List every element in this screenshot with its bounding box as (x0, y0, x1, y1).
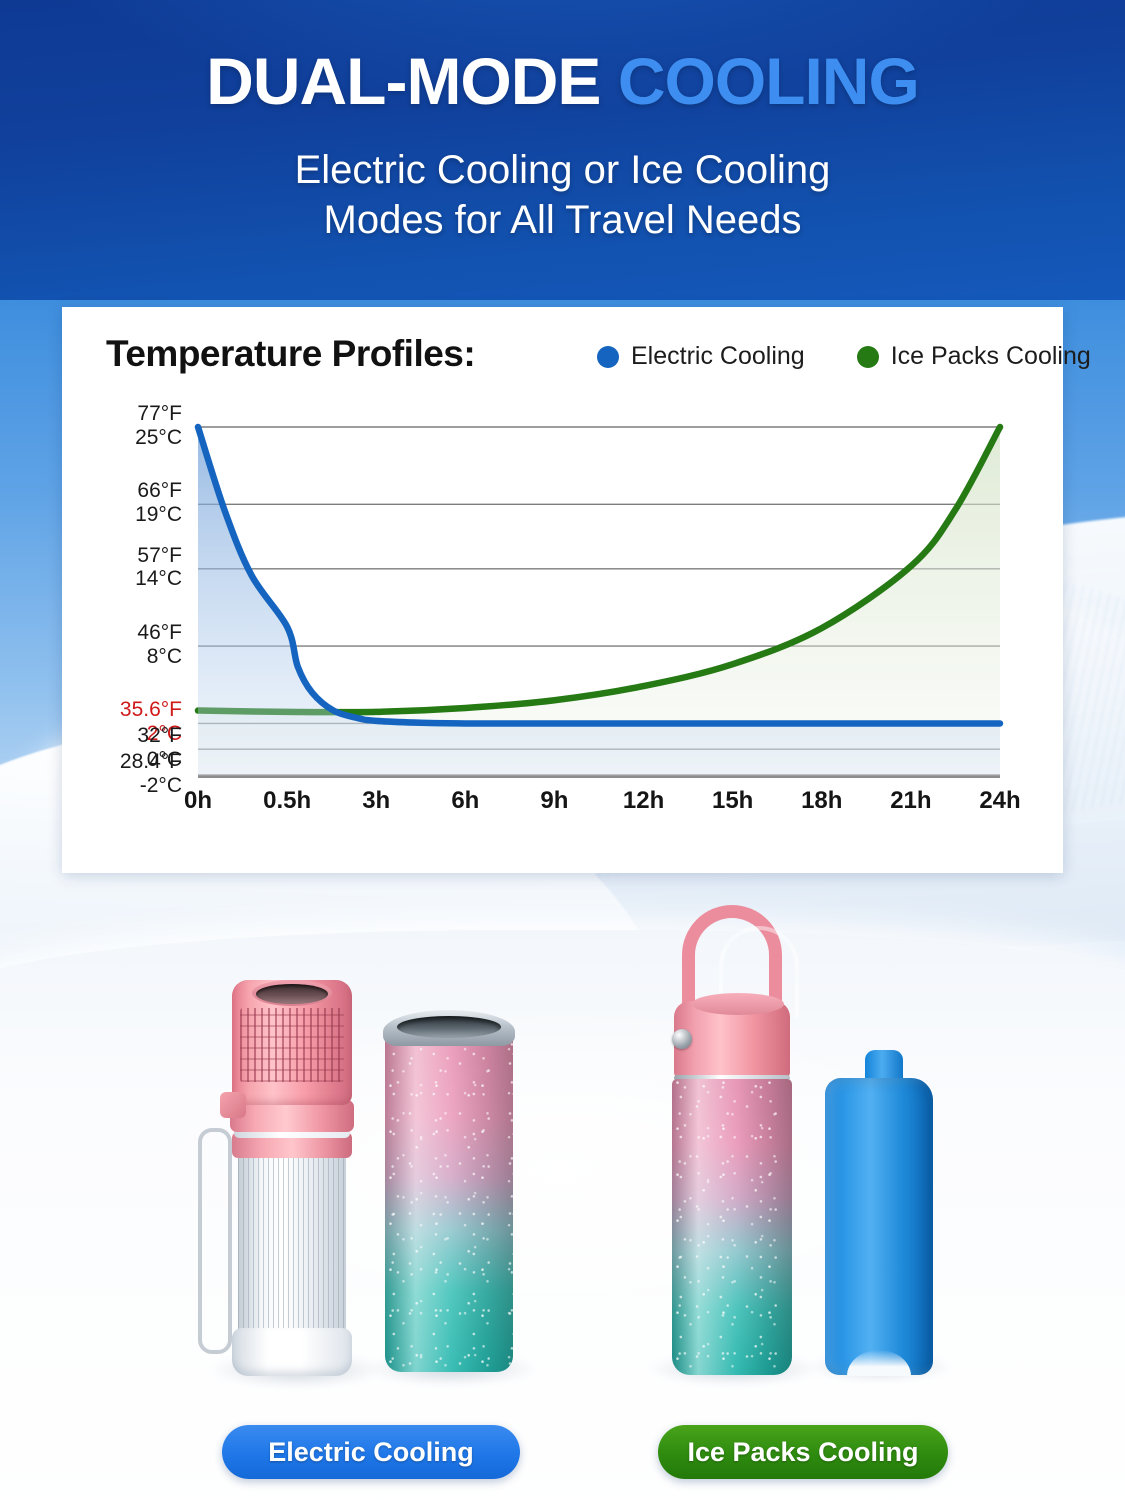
chart-x-axis-line (198, 776, 1000, 778)
y-tick-fahrenheit: 32°F (137, 724, 182, 748)
hero-banner: DUAL-MODE COOLING Electric Cooling or Ic… (0, 0, 1125, 300)
y-tick-fahrenheit: 28.4°F (120, 750, 182, 774)
x-tick-0h: 0h (184, 787, 212, 815)
pill-ice-packs-cooling[interactable]: Ice Packs Cooling (658, 1425, 948, 1479)
y-tick-celsius: 8°C (137, 645, 182, 669)
y-tick-fahrenheit: 66°F (135, 479, 182, 503)
chart-header: Temperature Profiles: Electric Cooling I… (62, 333, 1063, 385)
y-tick-fahrenheit: 35.6°F (120, 698, 182, 722)
legend-label-ice: Ice Packs Cooling (891, 342, 1091, 371)
x-tick-9h: 9h (540, 787, 568, 815)
x-tick-6h: 6h (451, 787, 479, 815)
y-tick-25: 77°F25°C (135, 402, 182, 449)
chart-legend: Electric Cooling Ice Packs Cooling (597, 342, 1091, 371)
chart-title: Temperature Profiles: (106, 333, 475, 375)
legend-dot-icon-ice (857, 346, 879, 368)
y-tick-celsius: -2°C (120, 774, 182, 798)
x-tick-24h: 24h (979, 787, 1020, 815)
legend-item-ice[interactable]: Ice Packs Cooling (857, 342, 1091, 371)
chart-plot-wrapper: 77°F25°C66°F19°C57°F14°C46°F8°C35.6°F2°C… (62, 427, 1063, 847)
chart-y-axis-labels: 77°F25°C66°F19°C57°F14°C46°F8°C35.6°F2°C… (62, 427, 190, 847)
y-tick-celsius: 25°C (135, 426, 182, 450)
legend-dot-icon-electric (597, 346, 619, 368)
y-tick--2: 28.4°F-2°C (120, 750, 182, 797)
x-tick-0.5h: 0.5h (263, 787, 311, 815)
chart-plot-area (198, 427, 1000, 775)
page-title-part-1: DUAL-MODE (206, 44, 600, 118)
page-subtitle-line-2: Modes for All Travel Needs (0, 195, 1125, 245)
chart-x-axis-labels: 0h0.5h3h6h9h12h15h18h21h24h (198, 779, 1000, 825)
y-tick-fahrenheit: 57°F (135, 544, 182, 568)
y-tick-8: 46°F8°C (137, 621, 182, 668)
page-title-part-2: COOLING (618, 44, 919, 118)
x-tick-15h: 15h (712, 787, 753, 815)
y-tick-fahrenheit: 77°F (135, 402, 182, 426)
x-tick-3h: 3h (362, 787, 390, 815)
pill-electric-cooling[interactable]: Electric Cooling (222, 1425, 520, 1479)
legend-label-electric: Electric Cooling (631, 342, 805, 371)
temperature-chart-card: Temperature Profiles: Electric Cooling I… (62, 307, 1063, 873)
page-title: DUAL-MODE COOLING (0, 48, 1125, 114)
foreground-glow (0, 990, 1125, 1350)
x-tick-21h: 21h (890, 787, 931, 815)
page-subtitle-line-1: Electric Cooling or Ice Cooling (0, 145, 1125, 195)
x-tick-18h: 18h (801, 787, 842, 815)
mode-label-row: Electric Cooling Ice Packs Cooling (0, 1425, 1125, 1485)
y-tick-celsius: 14°C (135, 567, 182, 591)
y-tick-fahrenheit: 46°F (137, 621, 182, 645)
y-tick-19: 66°F19°C (135, 479, 182, 526)
page-subtitle: Electric Cooling or Ice Cooling Modes fo… (0, 145, 1125, 245)
y-tick-celsius: 19°C (135, 503, 182, 527)
x-tick-12h: 12h (623, 787, 664, 815)
chart-svg (198, 427, 1000, 775)
y-tick-14: 57°F14°C (135, 544, 182, 591)
legend-item-electric[interactable]: Electric Cooling (597, 342, 805, 371)
